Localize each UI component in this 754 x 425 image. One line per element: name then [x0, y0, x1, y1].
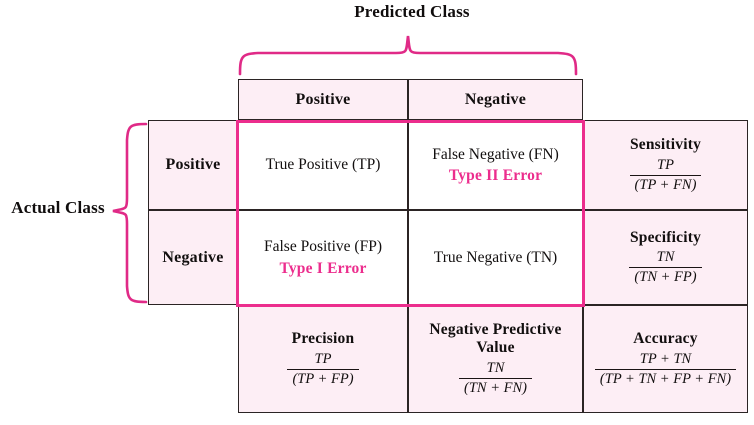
actual-class-title: Actual Class	[4, 198, 112, 218]
false-positive-label: False Positive (FP)	[264, 237, 382, 257]
column-header-positive: Positive	[238, 79, 408, 120]
precision-name: Precision	[288, 330, 359, 349]
predicted-class-brace	[236, 32, 586, 76]
type-ii-error-label: Type II Error	[449, 167, 542, 185]
precision-formula: TP (TP + FP)	[287, 351, 358, 388]
metric-accuracy: Accuracy TP + TN (TP + TN + FP + FN)	[583, 305, 748, 413]
row-header-positive: Positive	[148, 120, 238, 210]
row-header-negative-label: Negative	[162, 249, 223, 267]
cell-false-negative: False Negative (FN) Type II Error	[408, 120, 583, 210]
metric-precision: Precision TP (TP + FP)	[238, 305, 408, 413]
true-negative-label: True Negative (TN)	[434, 248, 557, 268]
true-positive-label: True Positive (TP)	[266, 155, 381, 175]
cell-false-positive: False Positive (FP) Type I Error	[238, 210, 408, 305]
metric-specificity: Specificity TN (TN + FP)	[583, 210, 748, 305]
metric-negative-predictive-value: Negative Predictive Value TN (TN + FN)	[408, 305, 583, 413]
sensitivity-name: Sensitivity	[626, 136, 705, 155]
specificity-name: Specificity	[626, 229, 705, 248]
confusion-matrix-table: Positive Negative Positive Negative True…	[148, 79, 748, 413]
column-header-negative-label: Negative	[465, 91, 526, 109]
row-header-negative: Negative	[148, 210, 238, 305]
column-header-negative: Negative	[408, 79, 583, 120]
specificity-formula: TN (TN + FP)	[629, 249, 701, 286]
negative-predictive-value-name: Negative Predictive Value	[409, 321, 582, 358]
negative-predictive-value-formula: TN (TN + FN)	[459, 360, 532, 397]
accuracy-name: Accuracy	[629, 330, 701, 349]
metric-sensitivity: Sensitivity TP (TP + FN)	[583, 120, 748, 210]
false-negative-label: False Negative (FN)	[432, 145, 559, 165]
row-header-positive-label: Positive	[166, 156, 221, 174]
actual-class-brace	[110, 120, 152, 310]
type-i-error-label: Type I Error	[279, 260, 366, 278]
accuracy-formula: TP + TN (TP + TN + FP + FN)	[595, 351, 736, 388]
predicted-class-title: Predicted Class	[240, 2, 584, 22]
cell-true-negative: True Negative (TN)	[408, 210, 583, 305]
sensitivity-formula: TP (TP + FN)	[630, 157, 702, 194]
column-header-positive-label: Positive	[296, 91, 351, 109]
cell-true-positive: True Positive (TP)	[238, 120, 408, 210]
